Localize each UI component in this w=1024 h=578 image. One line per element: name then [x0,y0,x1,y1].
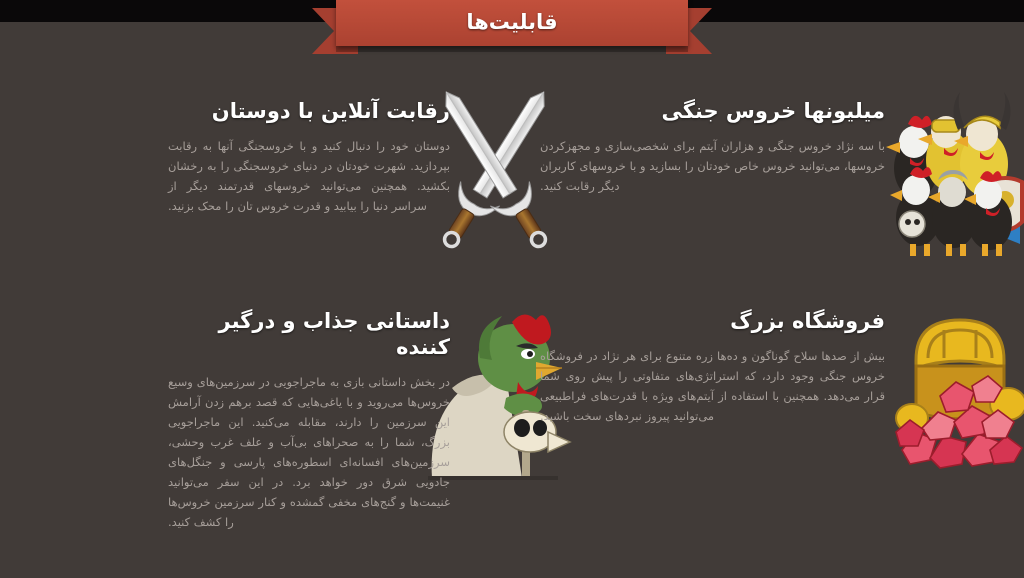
feature-card-roosters: میلیونها خروس جنگی با سه نژاد خروس جنگی … [540,98,885,308]
features-ribbon-banner: قابلیت‌ها [0,0,1024,58]
feature-body-shop: بیش از صدها سلاح گوناگون و ده‌ها زره متن… [540,346,885,426]
feature-text-online: رقابت آنلاین با دوستان دوستان خود را دنب… [168,98,450,216]
feature-title-roosters: میلیونها خروس جنگی [540,98,885,124]
feature-text-story: داستانی جذاب و درگیر کننده در بخش داستان… [168,308,450,532]
page-title: قابلیت‌ها [336,7,688,37]
feature-card-online: رقابت آنلاین با دوستان دوستان خود را دنب… [150,98,450,308]
feature-body-story: در بخش داستانی بازی به ماجراجویی در سرزم… [168,372,450,532]
ribbon-center-panel: قابلیت‌ها [336,0,688,46]
feature-body-roosters: با سه نژاد خروس جنگی و هزاران آیتم برای … [540,136,885,196]
feature-card-story: داستانی جذاب و درگیر کننده در بخش داستان… [150,308,450,538]
feature-text-roosters: میلیونها خروس جنگی با سه نژاد خروس جنگی … [540,98,885,196]
feature-text-shop: فروشگاه بزرگ بیش از صدها سلاح گوناگون و … [540,308,885,426]
feature-title-story: داستانی جذاب و درگیر کننده [168,308,450,360]
feature-title-online: رقابت آنلاین با دوستان [168,98,450,124]
feature-body-online: دوستان خود را دنبال کنید و با خروسجنگی آ… [168,136,450,216]
feature-title-shop: فروشگاه بزرگ [540,308,885,334]
treasure-chest-icon [882,300,1024,470]
features-grid: میلیونها خروس جنگی با سه نژاد خروس جنگی … [0,58,1024,578]
feature-card-shop: فروشگاه بزرگ بیش از صدها سلاح گوناگون و … [540,308,885,523]
rooster-army-icon [880,72,1024,262]
